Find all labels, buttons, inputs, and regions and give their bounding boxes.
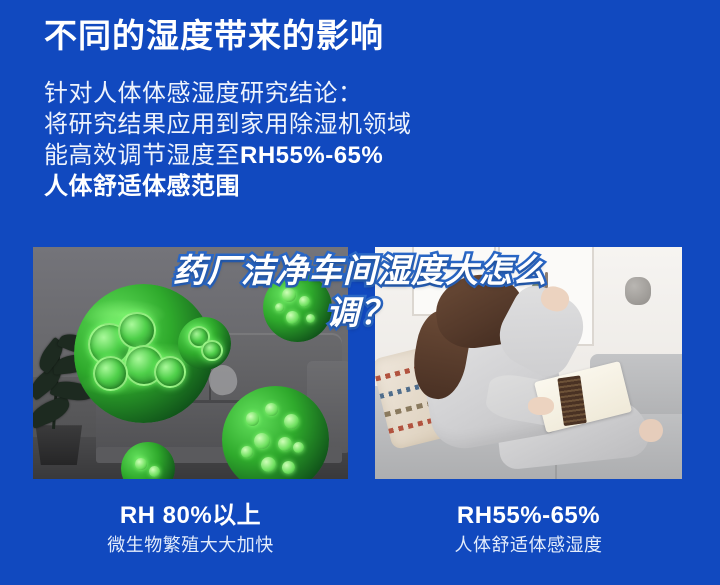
- bacteria-dot: [149, 466, 160, 477]
- woman-reading: [400, 275, 658, 475]
- header-line-3-range: RH55%-65%: [240, 142, 383, 169]
- header-line-3: 能高效调节湿度至RH55%-65%: [44, 140, 700, 171]
- header-line-3-prefix: 能高效调节湿度至: [44, 142, 240, 169]
- header-body: 针对人体体感湿度研究结论： 将研究结果应用到家用除湿机领域 能高效调节湿度至RH…: [44, 78, 700, 202]
- woman-hand-on-book: [528, 397, 554, 415]
- poster-root: 不同的湿度带来的影响 针对人体体感湿度研究结论： 将研究结果应用到家用除湿机领域…: [0, 0, 720, 585]
- caption-right: RH55%-65% 人体舒适体感湿度: [375, 500, 682, 558]
- plant-pot: [33, 425, 85, 465]
- bacteria-dot: [265, 403, 278, 416]
- caption-right-value: RH55%-65%: [375, 500, 682, 532]
- caption-left: RH 80%以上 微生物繁殖大大加快: [33, 500, 348, 558]
- header-line-1: 针对人体体感湿度研究结论：: [44, 78, 700, 109]
- bacteria-field: [263, 273, 332, 343]
- photo-left-high-humidity: [33, 247, 348, 479]
- header-line-4: 人体舒适体感范围: [44, 171, 700, 202]
- bacteria-dot: [246, 412, 260, 426]
- caption-row: RH 80%以上 微生物繁殖大大加快 RH55%-65% 人体舒适体感湿度: [0, 500, 720, 580]
- bacteria-dot: [278, 437, 292, 451]
- bacteria-cell: [93, 356, 127, 391]
- dark-room-scene: [33, 247, 348, 479]
- bacteria-dot: [286, 311, 298, 324]
- bacteria-sphere-small-top: [263, 273, 332, 343]
- caption-right-description: 人体舒适体感湿度: [375, 532, 682, 558]
- caption-left-value: RH 80%以上: [33, 500, 348, 532]
- bacteria-dot: [284, 414, 299, 429]
- photo-right-comfort-humidity: [375, 247, 682, 479]
- header-line-2: 将研究结果应用到家用除湿机领域: [44, 109, 700, 140]
- light-room-scene: [375, 247, 682, 479]
- header-block: 不同的湿度带来的影响 针对人体体感湿度研究结论： 将研究结果应用到家用除湿机领域…: [44, 14, 700, 202]
- bacteria-cell: [201, 340, 222, 361]
- caption-left-description: 微生物繁殖大大加快: [33, 532, 348, 558]
- bacteria-dot: [135, 458, 147, 470]
- photo-row: [0, 247, 720, 479]
- page-title: 不同的湿度带来的影响: [44, 14, 700, 58]
- bacteria-dot: [241, 446, 253, 458]
- bacteria-sphere-edge: [178, 317, 232, 370]
- bacteria-dot: [282, 288, 296, 302]
- woman-foot: [639, 419, 662, 443]
- bacteria-dot: [261, 457, 276, 472]
- bacteria-dot: [282, 461, 295, 474]
- bacteria-cell: [118, 312, 155, 349]
